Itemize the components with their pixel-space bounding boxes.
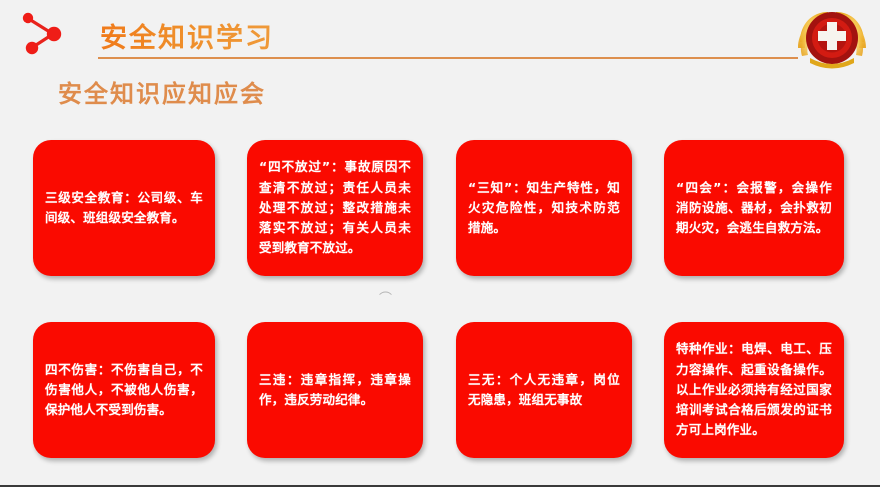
card-three-knows[interactable]: “三知”：知生产特性，知火灾危险性，知技术防范措施。 xyxy=(456,140,632,276)
card-text: “四不放过”：事故原因不查清不放过；责任人员未处理不放过；整改措施未落实不放过；… xyxy=(259,157,411,258)
card-text: 三违：违章指挥，违章操作，违反劳动纪律。 xyxy=(259,370,411,411)
card-text: 三无：个人无违章，岗位无隐患，班组无事故 xyxy=(468,370,620,411)
card-four-cans[interactable]: “四会”：会报警，会操作消防设施、器材，会扑救初期火灾，会逃生自救方法。 xyxy=(664,140,844,276)
card-text: “三知”：知生产特性，知火灾危险性，知技术防范措施。 xyxy=(468,178,620,239)
knowledge-card-grid: 三级安全教育：公司级、车间级、班组级安全教育。 “四不放过”：事故原因不查清不放… xyxy=(0,132,880,472)
card-text: “四会”：会报警，会操作消防设施、器材，会扑救初期火灾，会逃生自救方法。 xyxy=(676,178,832,239)
node-graph-icon xyxy=(14,8,72,58)
page-subtitle: 安全知识应知应会 xyxy=(58,74,266,109)
safety-emblem-logo xyxy=(794,2,870,74)
card-four-no-let-go[interactable]: “四不放过”：事故原因不查清不放过；责任人员未处理不放过；整改措施未落实不放过；… xyxy=(247,140,423,276)
card-three-level-safety-education[interactable]: 三级安全教育：公司级、车间级、班组级安全教育。 xyxy=(33,140,215,276)
mouse-cursor-marker: ⌒ xyxy=(379,294,391,306)
card-three-violations[interactable]: 三违：违章指挥，违章操作，违反劳动纪律。 xyxy=(247,322,423,458)
slide-canvas: 安全知识学习 安全知识应知应会 xyxy=(0,0,880,487)
header-divider xyxy=(98,57,798,59)
card-three-nones[interactable]: 三无：个人无违章，岗位无隐患，班组无事故 xyxy=(456,322,632,458)
page-title: 安全知识学习 xyxy=(100,16,274,55)
card-text: 三级安全教育：公司级、车间级、班组级安全教育。 xyxy=(45,188,203,229)
card-special-operations[interactable]: 特种作业：电焊、电工、压力容操作、起重设备操作。以上作业必须持有经过国家培训考试… xyxy=(664,322,844,458)
card-text: 特种作业：电焊、电工、压力容操作、起重设备操作。以上作业必须持有经过国家培训考试… xyxy=(676,339,832,440)
slide-header: 安全知识学习 安全知识应知应会 xyxy=(0,0,880,118)
card-four-no-harm[interactable]: 四不伤害：不伤害自己，不伤害他人，不被他人伤害，保护他人不受到伤害。 xyxy=(33,322,215,458)
card-text: 四不伤害：不伤害自己，不伤害他人，不被他人伤害，保护他人不受到伤害。 xyxy=(45,360,203,421)
